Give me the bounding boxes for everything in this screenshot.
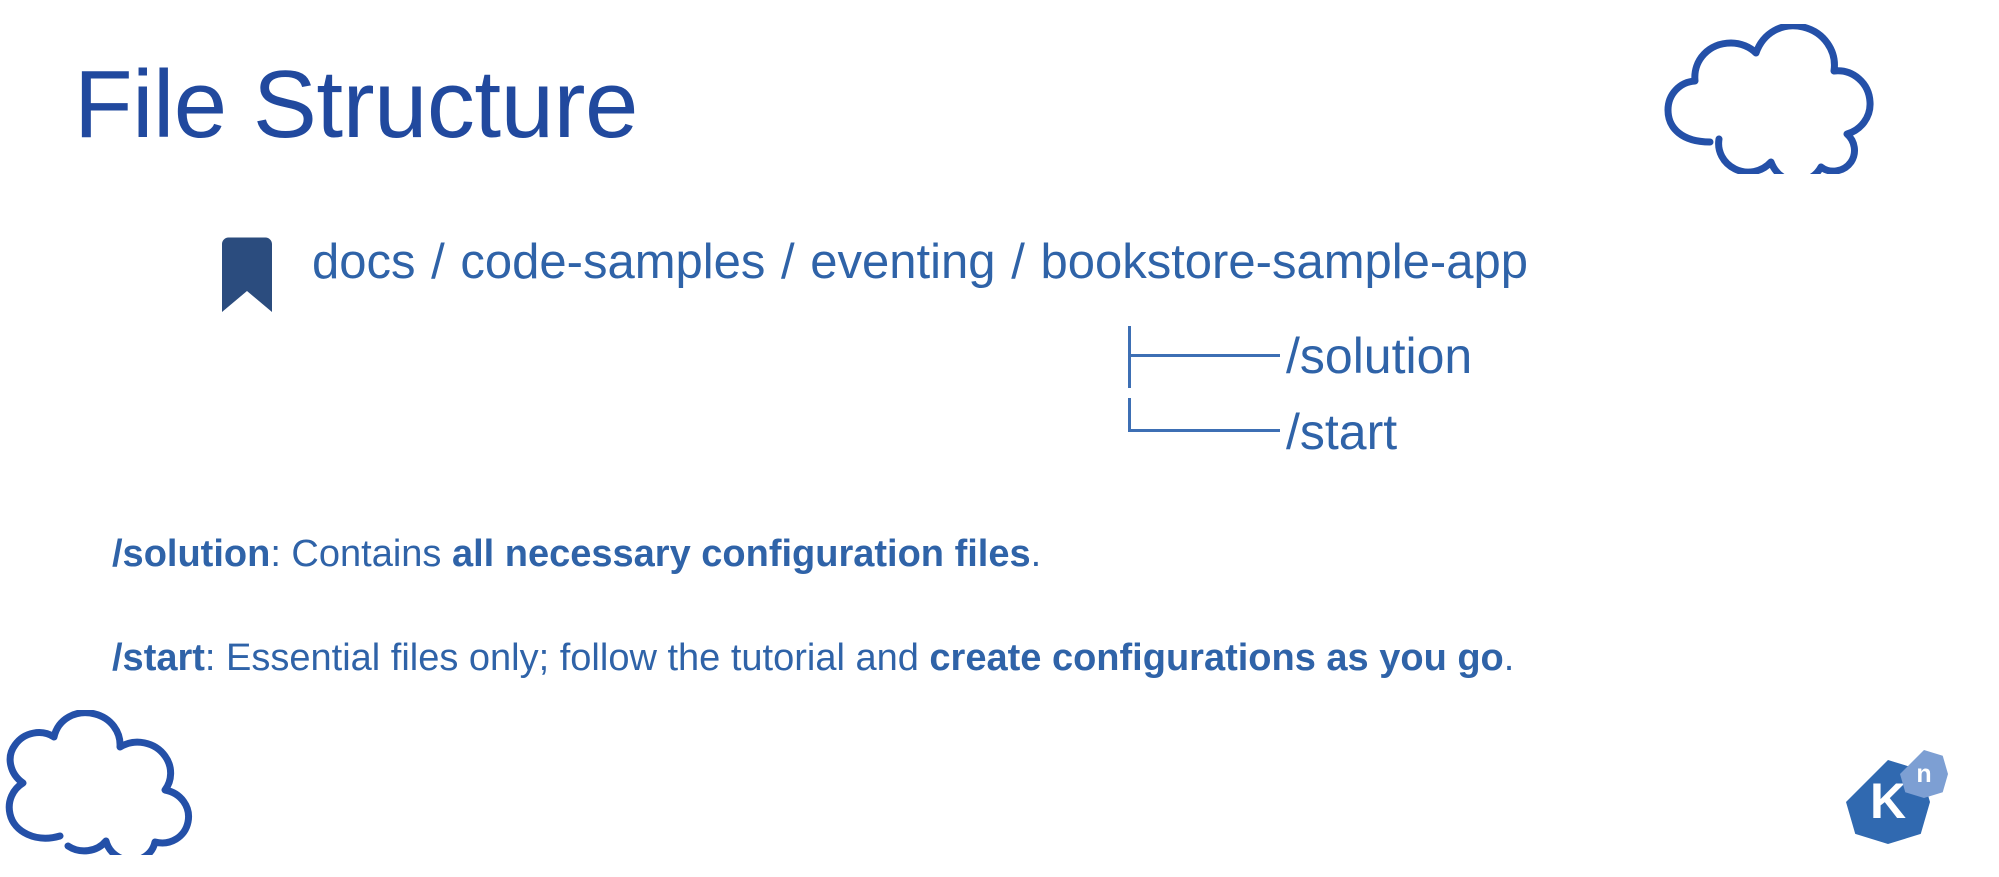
description-start: /start: Essential files only; follow the… xyxy=(112,637,1514,681)
cloud-icon xyxy=(1648,24,1878,179)
breadcrumb-segment-docs[interactable]: docs xyxy=(312,235,416,289)
description-punctuation: . xyxy=(1504,637,1515,679)
breadcrumb-separator: / xyxy=(779,235,797,289)
tree-item-start: /start xyxy=(1128,394,1397,470)
tree-item-label: /start xyxy=(1286,407,1397,457)
breadcrumb-separator: / xyxy=(429,235,447,289)
tree-item-solution: /solution xyxy=(1128,318,1472,394)
knative-logo-letter: K xyxy=(1870,776,1906,826)
description-punctuation: . xyxy=(1031,533,1042,575)
bookmark-icon xyxy=(218,236,276,319)
description-solution: /solution: Contains all necessary config… xyxy=(112,533,1041,577)
description-text: : Essential files only; follow the tutor… xyxy=(205,637,930,679)
knative-logo: K n xyxy=(1846,750,1966,860)
breadcrumb-separator: / xyxy=(1009,235,1027,289)
cloud-icon xyxy=(0,710,203,860)
description-text: : Contains xyxy=(270,533,452,575)
breadcrumb-segment-code-samples[interactable]: code-samples xyxy=(460,235,765,289)
slide-canvas: File Structure docs / code-samples / eve… xyxy=(0,0,1999,877)
tree-branch-icon xyxy=(1128,318,1280,394)
breadcrumb: docs / code-samples / eventing / booksto… xyxy=(312,238,1528,287)
breadcrumb-segment-bookstore-sample-app[interactable]: bookstore-sample-app xyxy=(1040,235,1528,289)
description-term: /solution xyxy=(112,533,270,575)
breadcrumb-segment-eventing[interactable]: eventing xyxy=(810,235,995,289)
knative-badge-icon: n xyxy=(1900,750,1948,798)
description-emphasis: all necessary configuration files xyxy=(452,533,1031,575)
tree-item-label: /solution xyxy=(1286,331,1472,381)
tree-corner-icon xyxy=(1128,394,1280,470)
description-term: /start xyxy=(112,637,205,679)
description-emphasis: create configurations as you go xyxy=(929,637,1503,679)
knative-badge-letter: n xyxy=(1916,762,1931,787)
page-title: File Structure xyxy=(74,57,638,153)
